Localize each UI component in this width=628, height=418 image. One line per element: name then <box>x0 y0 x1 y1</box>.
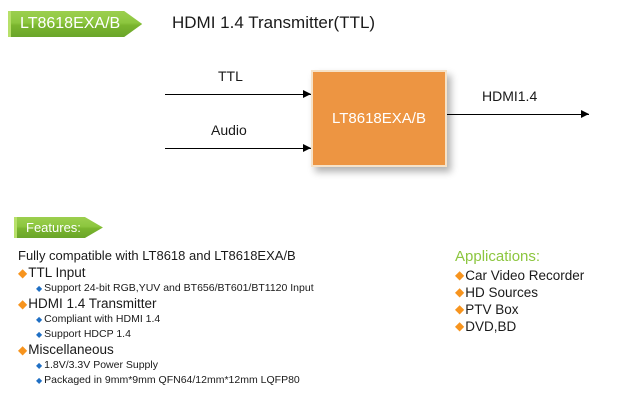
feature-item: ◆ Miscellaneous <box>18 342 378 358</box>
feature-item-label: TTL Input <box>28 265 85 281</box>
arrow-head-icon-audio <box>303 144 311 152</box>
application-item: ◆ Car Video Recorder <box>455 267 625 284</box>
diamond-small-bullet-icon: ◆ <box>36 327 42 342</box>
page-title: HDMI 1.4 Transmitter(TTL) <box>172 13 375 33</box>
diagram-wire-ttl <box>165 94 311 95</box>
feature-subitem: ◆ Packaged in 9mm*9mm QFN64/12mm*12mm LQ… <box>36 373 378 388</box>
features-tag: Features: <box>14 217 103 238</box>
diagram-wire-hdmi <box>447 114 589 115</box>
arrow-head-icon-ttl <box>303 90 311 98</box>
application-item: ◆ HD Sources <box>455 284 625 301</box>
diagram-wire-audio <box>165 148 311 149</box>
feature-subitem-label: Support 24-bit RGB,YUV and BT656/BT601/B… <box>44 281 313 296</box>
diamond-small-bullet-icon: ◆ <box>36 281 42 296</box>
application-item-label: DVD,BD <box>465 318 516 335</box>
part-number-tag-label: LT8618EXA/B <box>11 16 142 32</box>
diamond-bullet-icon: ◆ <box>18 265 27 281</box>
diamond-bullet-icon: ◆ <box>18 296 27 312</box>
feature-subitem: ◆ Compliant with HDMI 1.4 <box>36 312 378 327</box>
application-item: ◆ PTV Box <box>455 301 625 318</box>
application-item-label: Car Video Recorder <box>465 267 584 284</box>
diamond-small-bullet-icon: ◆ <box>36 373 42 388</box>
features-tag-label: Features: <box>17 221 103 234</box>
diamond-small-bullet-icon: ◆ <box>36 312 42 327</box>
diagram-chip-label: LT8618EXA/B <box>332 110 426 127</box>
feature-subitem: ◆ Support 24-bit RGB,YUV and BT656/BT601… <box>36 281 378 296</box>
arrow-head-icon-hdmi <box>581 110 589 118</box>
feature-item: ◆ TTL Input <box>18 265 378 281</box>
feature-subitem: ◆ 1.8V/3.3V Power Supply <box>36 358 378 373</box>
feature-subitem-label: Compliant with HDMI 1.4 <box>44 312 160 327</box>
feature-subitem-label: 1.8V/3.3V Power Supply <box>44 358 158 373</box>
feature-item-label: Miscellaneous <box>28 342 114 358</box>
diamond-bullet-icon: ◆ <box>455 318 464 334</box>
block-diagram: TTL Audio LT8618EXA/B HDMI1.4 <box>0 48 628 198</box>
feature-subitem-label: Support HDCP 1.4 <box>44 327 131 342</box>
part-number-tag: LT8618EXA/B <box>8 11 142 37</box>
diamond-bullet-icon: ◆ <box>455 284 464 300</box>
feature-item: ◆ HDMI 1.4 Transmitter <box>18 296 378 312</box>
diagram-label-ttl: TTL <box>218 68 243 84</box>
features-intro: Fully compatible with LT8618 and LT8618E… <box>18 248 378 264</box>
diamond-bullet-icon: ◆ <box>455 301 464 317</box>
diagram-label-audio: Audio <box>211 122 247 138</box>
applications-section: Applications: ◆ Car Video Recorder ◆ HD … <box>455 247 625 335</box>
feature-subitem-label: Packaged in 9mm*9mm QFN64/12mm*12mm LQFP… <box>44 373 300 388</box>
diagram-chip-block: LT8618EXA/B <box>311 70 447 167</box>
diagram-label-hdmi: HDMI1.4 <box>482 88 537 104</box>
feature-subitem: ◆ Support HDCP 1.4 <box>36 327 378 342</box>
application-item-label: PTV Box <box>465 301 518 318</box>
diamond-bullet-icon: ◆ <box>455 267 464 283</box>
features-list: Fully compatible with LT8618 and LT8618E… <box>18 248 378 388</box>
diamond-small-bullet-icon: ◆ <box>36 358 42 373</box>
application-item-label: HD Sources <box>465 284 538 301</box>
diamond-bullet-icon: ◆ <box>18 342 27 358</box>
application-item: ◆ DVD,BD <box>455 318 625 335</box>
applications-heading: Applications: <box>455 247 625 266</box>
feature-item-label: HDMI 1.4 Transmitter <box>28 296 156 312</box>
